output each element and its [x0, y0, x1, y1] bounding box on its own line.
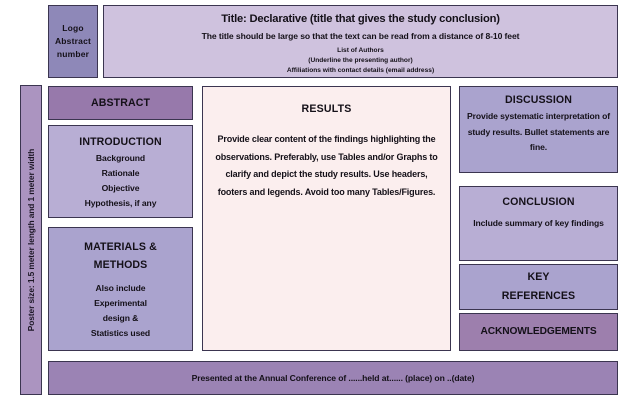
- poster-title: Title: Declarative (title that gives the…: [221, 12, 500, 27]
- abstract-heading: ABSTRACT: [91, 94, 150, 112]
- presenting-author-note: (Underline the presenting author): [308, 56, 412, 66]
- conclusion-body-text: Include summary of key findings: [473, 216, 604, 232]
- introduction-item: Rationale: [102, 166, 140, 181]
- materials-item: Statistics used: [91, 326, 150, 341]
- introduction-item: Background: [96, 151, 145, 166]
- section-acknowledgements: ACKNOWLEDGEMENTS: [459, 313, 618, 351]
- logo-label: Logo: [62, 22, 84, 35]
- discussion-heading: DISCUSSION: [505, 94, 572, 106]
- references-heading-line1: KEY: [527, 268, 549, 287]
- footer-text: Presented at the Annual Conference of ..…: [192, 373, 475, 383]
- section-results: RESULTS Provide clear content of the fin…: [202, 86, 451, 351]
- poster-template-diagram: Logo Abstract number Title: Declarative …: [0, 0, 624, 401]
- results-heading: RESULTS: [301, 103, 351, 115]
- materials-item: Experimental: [94, 296, 147, 311]
- materials-heading-line2: METHODS: [94, 256, 148, 274]
- logo-abstract-number-box: Logo Abstract number: [48, 5, 98, 78]
- title-size-note: The title should be large so that the te…: [202, 30, 520, 43]
- section-abstract: ABSTRACT: [48, 86, 193, 120]
- materials-item: design &: [103, 311, 139, 326]
- conclusion-heading: CONCLUSION: [502, 196, 574, 208]
- materials-heading-line1: MATERIALS &: [84, 238, 157, 256]
- introduction-item: Objective: [102, 181, 140, 196]
- conference-footer: Presented at the Annual Conference of ..…: [48, 361, 618, 395]
- section-discussion: DISCUSSION Provide systematic interpreta…: [459, 86, 618, 173]
- results-body-text: Provide clear content of the findings hi…: [213, 131, 440, 201]
- section-key-references: KEY REFERENCES: [459, 264, 618, 310]
- section-materials-methods: MATERIALS & METHODS Also include Experim…: [48, 227, 193, 351]
- authors-line: List of Authors: [337, 46, 384, 56]
- abstract-label: Abstract: [55, 35, 91, 48]
- number-label: number: [57, 48, 89, 61]
- title-banner: Title: Declarative (title that gives the…: [103, 5, 618, 78]
- acknowledgements-heading: ACKNOWLEDGEMENTS: [480, 323, 596, 341]
- discussion-body-text: Provide systematic interpretation of stu…: [465, 109, 612, 156]
- section-conclusion: CONCLUSION Include summary of key findin…: [459, 186, 618, 261]
- affiliations-line: Affiliations with contact details (email…: [287, 66, 434, 76]
- poster-size-label: Poster size: 1.5 meter length and 1 mete…: [26, 149, 36, 331]
- poster-size-strip: Poster size: 1.5 meter length and 1 mete…: [20, 85, 42, 395]
- references-heading-line2: REFERENCES: [502, 287, 575, 306]
- section-introduction: INTRODUCTION Background Rationale Object…: [48, 125, 193, 218]
- introduction-heading: INTRODUCTION: [79, 133, 161, 151]
- introduction-item: Hypothesis, if any: [85, 196, 157, 211]
- materials-item: Also include: [96, 281, 146, 296]
